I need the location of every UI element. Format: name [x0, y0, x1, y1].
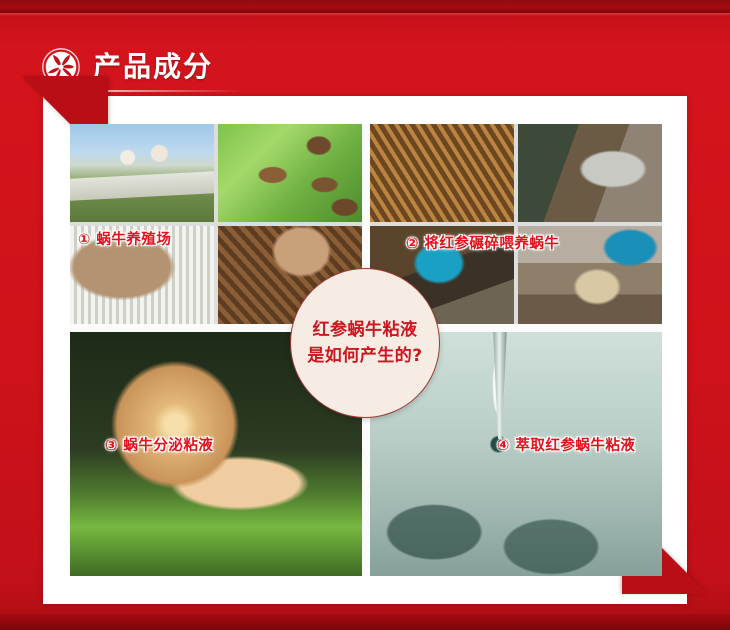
step-label-4: ④ 萃取红参蜗牛粘液	[497, 434, 635, 455]
product-ingredients-banner: 产品成分 ① 蜗牛	[0, 0, 730, 630]
badge-line-2: 是如何产生的?	[307, 343, 422, 369]
section-header: 产品成分	[0, 16, 730, 90]
step-label-3: ③ 蜗牛分泌粘液	[105, 434, 213, 455]
bottom-edge-strip	[0, 614, 730, 630]
center-question-badge: 红参蜗牛粘液 是如何产生的?	[290, 268, 440, 418]
worker-feeding-grinder-photo	[518, 124, 662, 222]
snails-on-lettuce-photo	[218, 124, 362, 222]
badge-line-1: 红参蜗牛粘液	[313, 317, 418, 343]
step-label-1: ① 蜗牛养殖场	[78, 228, 171, 249]
title-underline	[93, 90, 243, 92]
ginseng-roots-in-basin-photo	[370, 124, 514, 222]
page-title: 产品成分	[93, 48, 213, 86]
step-label-2: ② 将红参碾碎喂养蜗牛	[406, 232, 559, 253]
top-edge-strip	[0, 0, 730, 13]
snail-farm-workers-photo	[70, 124, 214, 222]
